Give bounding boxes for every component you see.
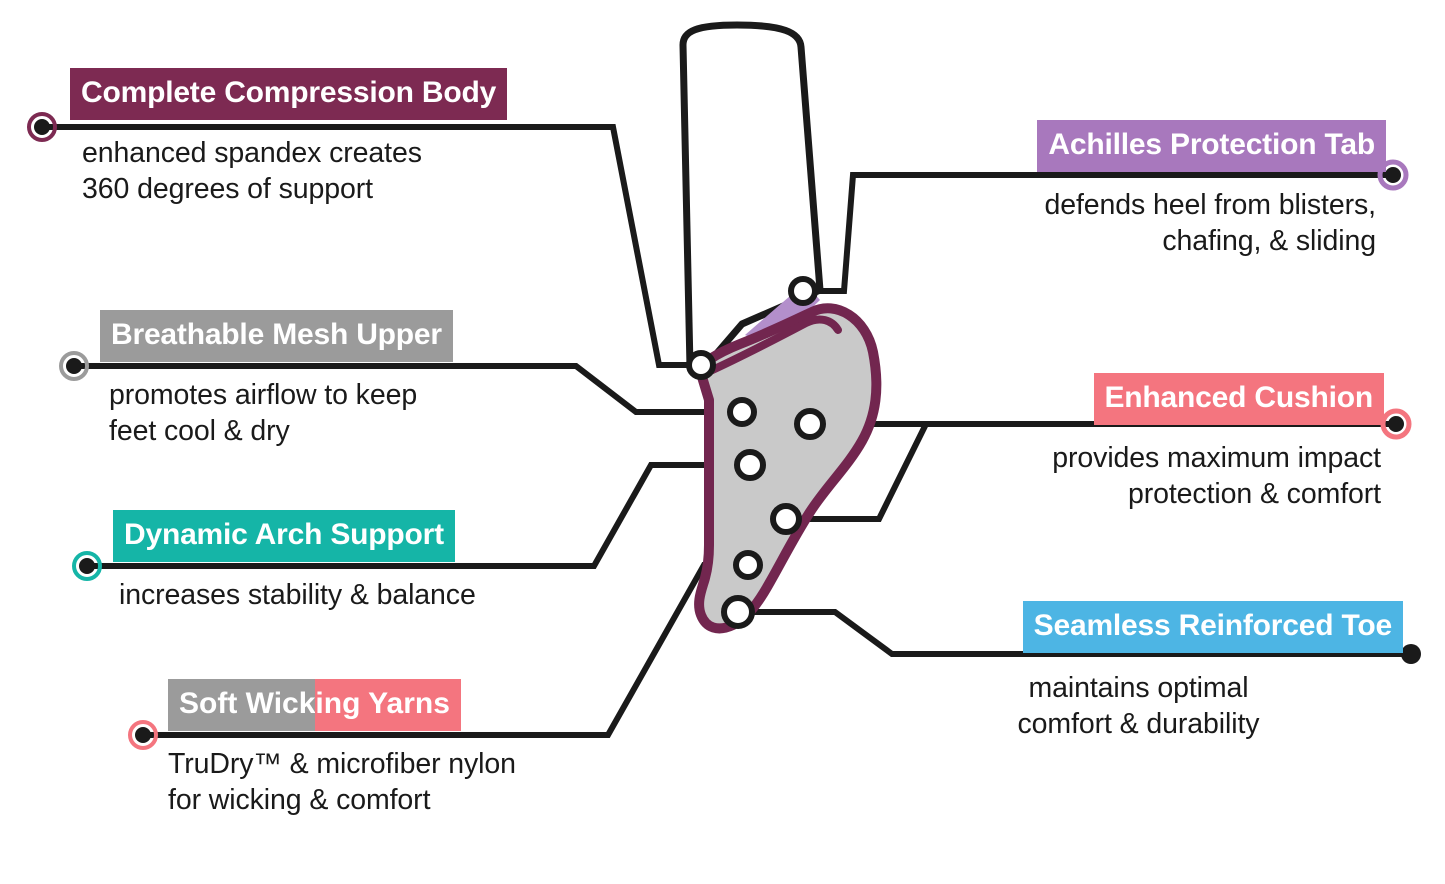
sock-outline — [699, 308, 876, 628]
badge-enhanced-cushion: Enhanced Cushion — [1094, 373, 1385, 425]
dot-core-seamless-reinforced-toe — [1401, 644, 1421, 664]
badge-wrap-achilles-protection-tab: Achilles Protection Tab — [880, 120, 1386, 172]
marker-dynamic-arch-support — [737, 452, 763, 478]
callout-soft-wicking-yarns[interactable]: Soft Wick ing Yarns TruDry™ & microfiber… — [168, 679, 648, 819]
description-complete-compression-body: enhanced spandex creates 360 degrees of … — [70, 136, 615, 208]
badge-achilles-protection-tab: Achilles Protection Tab — [1037, 120, 1386, 172]
marker-complete-compression-body — [689, 353, 713, 377]
marker-achilles-protection-tab — [791, 279, 815, 303]
badge-breathable-mesh-upper: Breathable Mesh Upper — [100, 310, 453, 362]
dot-core-soft-wicking-yarns — [135, 727, 151, 743]
callout-complete-compression-body[interactable]: Complete Compression Body enhanced spand… — [70, 68, 615, 208]
description-breathable-mesh-upper: promotes airflow to keep feet cool & dry — [100, 378, 580, 450]
callout-enhanced-cushion[interactable]: Enhanced Cushion provides maximum impact… — [880, 373, 1384, 513]
description-enhanced-cushion: provides maximum impact protection & com… — [880, 441, 1384, 513]
badge-wrap-seamless-reinforced-toe: Seamless Reinforced Toe — [880, 601, 1403, 653]
marker-enhanced-cushion — [797, 411, 823, 437]
badge-wrap-complete-compression-body: Complete Compression Body — [70, 68, 615, 120]
badge-wrap-breathable-mesh-upper: Breathable Mesh Upper — [100, 310, 580, 362]
dot-core-breathable-mesh-upper — [66, 358, 82, 374]
callout-breathable-mesh-upper[interactable]: Breathable Mesh Upper promotes airflow t… — [100, 310, 580, 450]
dot-core-dynamic-arch-support — [79, 558, 95, 574]
callout-dynamic-arch-support[interactable]: Dynamic Arch Support increases stability… — [113, 510, 593, 614]
badge-soft-wicking-yarns-segment-gray: Soft Wick — [168, 679, 315, 731]
badge-dynamic-arch-support: Dynamic Arch Support — [113, 510, 455, 562]
description-seamless-reinforced-toe: maintains optimal comfort & durability — [880, 671, 1403, 743]
badge-soft-wicking-yarns: Soft Wick ing Yarns — [168, 679, 461, 731]
description-soft-wicking-yarns: TruDry™ & microfiber nylon for wicking &… — [168, 747, 648, 819]
dot-core-enhanced-cushion — [1388, 416, 1404, 432]
callout-achilles-protection-tab[interactable]: Achilles Protection Tab defends heel fro… — [880, 120, 1386, 260]
badge-wrap-soft-wicking-yarns: Soft Wick ing Yarns — [168, 679, 648, 731]
badge-wrap-dynamic-arch-support: Dynamic Arch Support — [113, 510, 593, 562]
badge-complete-compression-body: Complete Compression Body — [70, 68, 507, 120]
callout-seamless-reinforced-toe[interactable]: Seamless Reinforced Toe maintains optima… — [880, 601, 1403, 743]
marker-enhanced-cushion-lower — [773, 506, 799, 532]
description-achilles-protection-tab: defends heel from blisters, chafing, & s… — [880, 188, 1386, 260]
badge-soft-wicking-yarns-segment-pink: ing Yarns — [315, 679, 461, 731]
dot-core-achilles-protection-tab — [1385, 167, 1401, 183]
badge-wrap-enhanced-cushion: Enhanced Cushion — [880, 373, 1384, 425]
dot-core-complete-compression-body — [34, 119, 50, 135]
marker-seamless-reinforced-toe — [724, 598, 752, 626]
infographic-canvas: Complete Compression Body enhanced spand… — [0, 0, 1445, 884]
sock-foot-body — [680, 300, 900, 660]
badge-seamless-reinforced-toe: Seamless Reinforced Toe — [1023, 601, 1403, 653]
marker-soft-wicking-yarns — [736, 553, 760, 577]
marker-breathable-mesh-upper — [730, 400, 754, 424]
description-dynamic-arch-support: increases stability & balance — [113, 578, 593, 614]
